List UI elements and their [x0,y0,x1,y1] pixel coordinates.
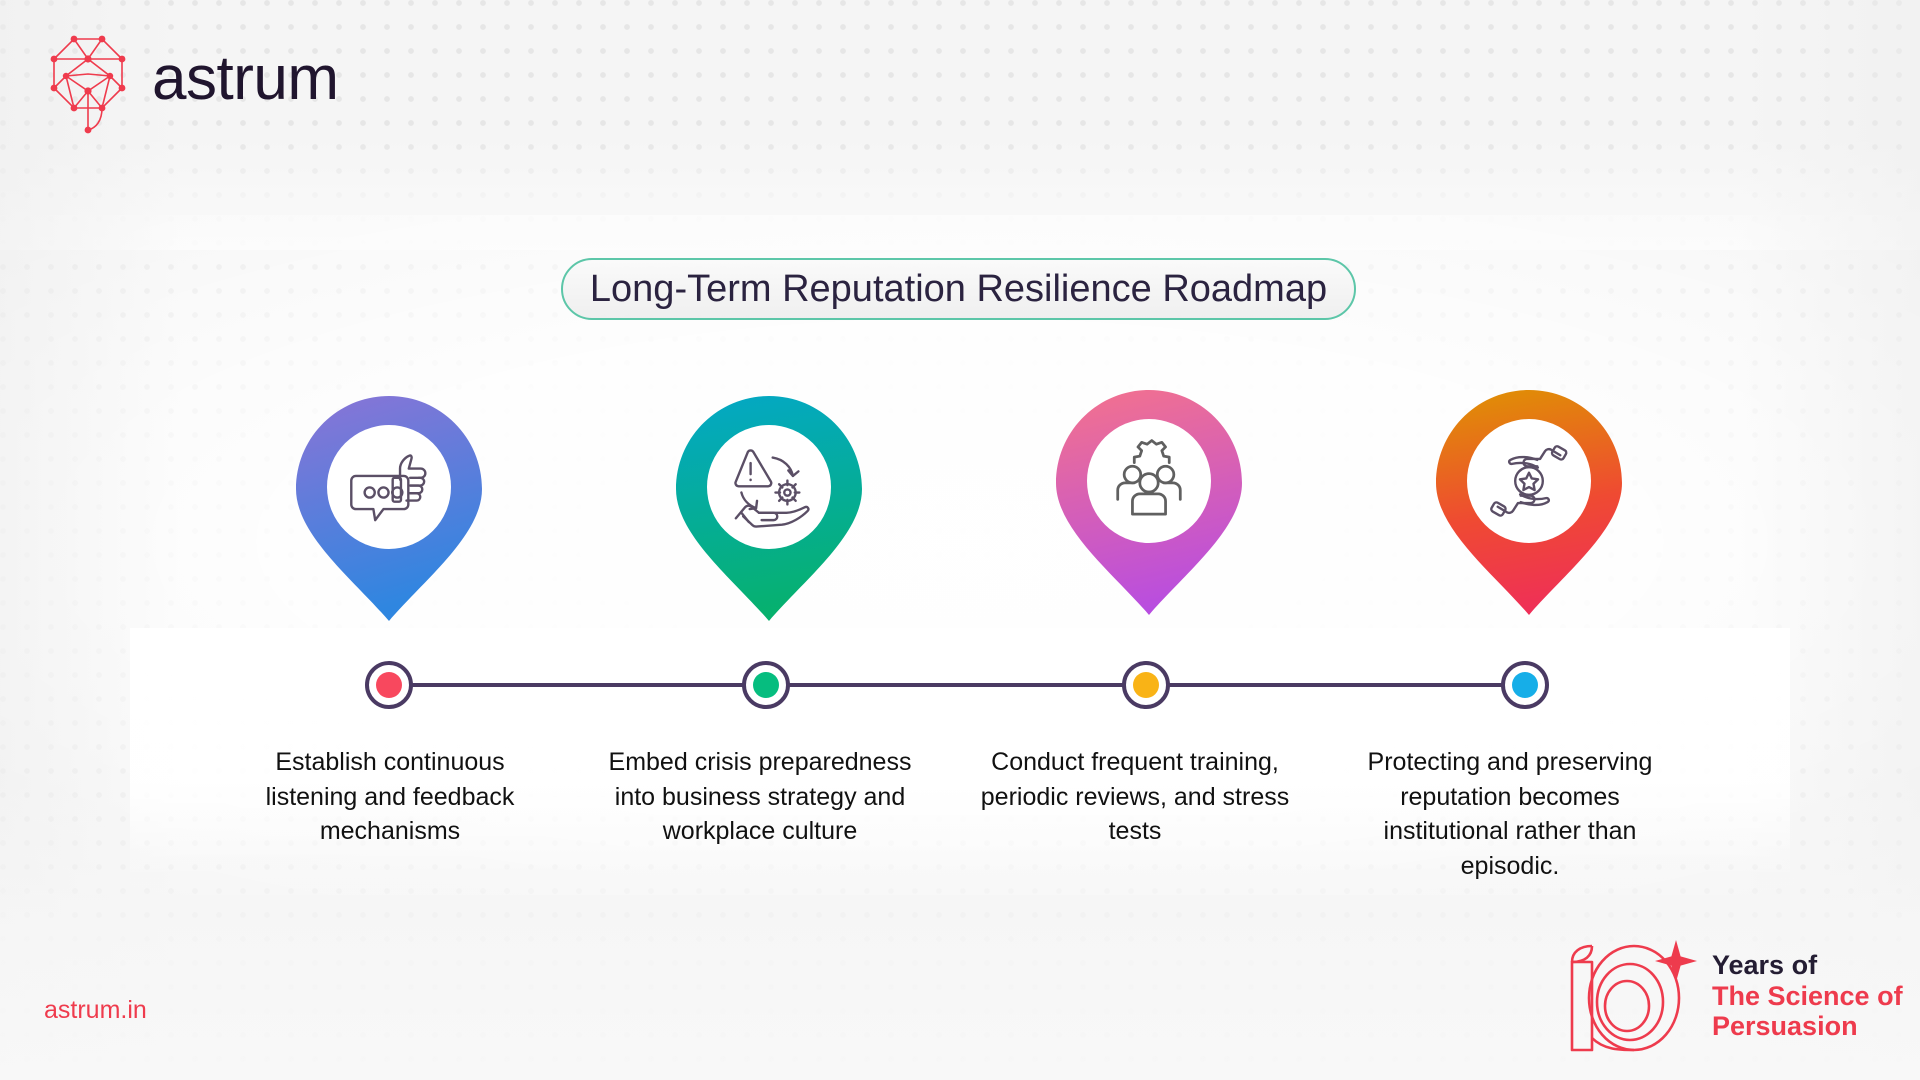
timeline-dot-4 [1512,672,1538,698]
roadmap-pin-1[interactable] [296,396,482,621]
anniversary-line-3: Persuasion [1712,1011,1903,1042]
brand-lockup: astrum [44,26,338,138]
anniversary-badge: Years of The Science of Persuasion [1558,938,1903,1056]
hands-protecting-star-icon [1483,435,1575,527]
anniversary-line-2: The Science of [1712,981,1903,1012]
timeline-dot-3 [1133,672,1159,698]
anniversary-line-1: Years of [1712,950,1903,981]
page-title: Long-Term Reputation Resilience Roadmap [590,268,1327,311]
timeline-node-4[interactable] [1501,661,1549,709]
step-caption-4: Protecting and preserving reputation bec… [1340,745,1680,883]
team-gear-icon [1103,435,1195,527]
website-url[interactable]: astrum.in [44,996,147,1025]
astrum-network-logo-icon [44,26,136,138]
timeline-node-1[interactable] [365,661,413,709]
step-caption-2: Embed crisis preparedness into business … [595,745,925,849]
anniversary-text: Years of The Science of Persuasion [1712,950,1903,1044]
step-caption-3: Conduct frequent training, periodic revi… [975,745,1295,849]
chat-bubble-thumbs-up-icon [343,441,435,533]
timeline-dot-2 [753,672,779,698]
timeline-node-2[interactable] [742,661,790,709]
roadmap-pin-3[interactable] [1056,390,1242,615]
brand-name: astrum [152,48,338,116]
roadmap-pin-4[interactable] [1436,390,1622,615]
timeline-track [385,683,1530,687]
hand-warning-gear-icon [723,441,815,533]
roadmap-pin-2[interactable] [676,396,862,621]
timeline-node-3[interactable] [1122,661,1170,709]
four-point-star-icon [1655,940,1697,982]
infographic-canvas: astrum Long-Term Reputation Resilience R… [0,0,1920,1080]
step-caption-1: Establish continuous listening and feedb… [230,745,550,849]
page-title-pill: Long-Term Reputation Resilience Roadmap [561,258,1356,320]
ten-years-spiral-icon [1558,938,1706,1056]
timeline-dot-1 [376,672,402,698]
